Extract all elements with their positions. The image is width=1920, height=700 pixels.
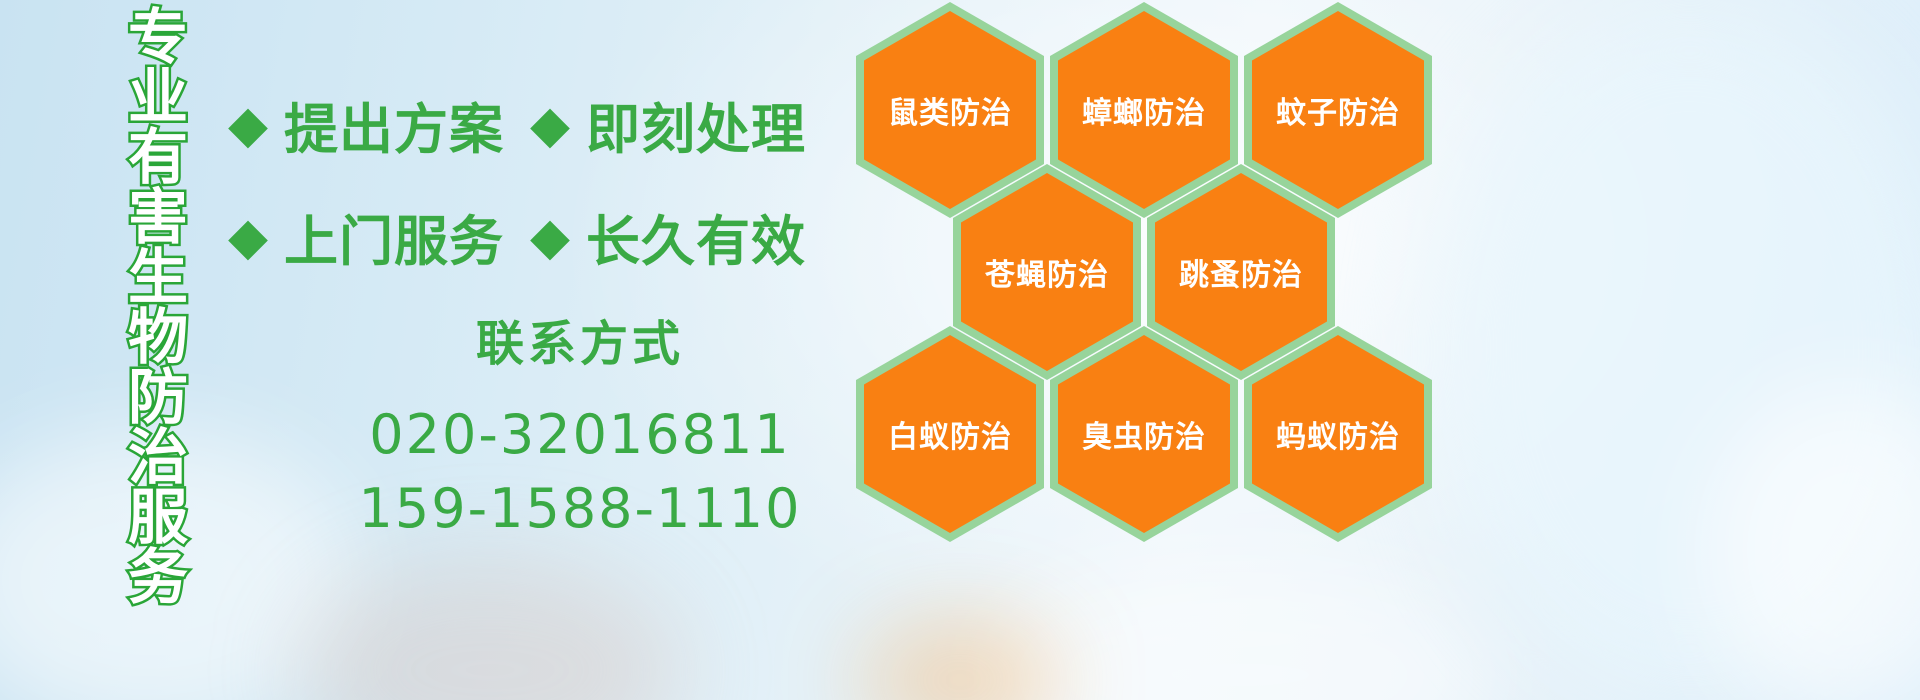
hexagon-fill: 鼠类防治 (864, 11, 1036, 209)
service-label: 蚊子防治 (1276, 88, 1400, 132)
phone-mobile[interactable]: 159-1588-1110 (300, 474, 860, 544)
vertical-title-char: 有 (128, 128, 188, 188)
service-label: 臭虫防治 (1082, 412, 1206, 456)
contact-heading: 联系方式 (300, 312, 860, 376)
service-label: 苍蝇防治 (985, 250, 1109, 294)
service-label: 蚂蚁防治 (1276, 412, 1400, 456)
diamond-bullet-icon: ◆ (228, 211, 268, 263)
vertical-title-char: 治 (128, 428, 188, 488)
vertical-title-char: 务 (128, 548, 188, 608)
vertical-title-char: 专 (128, 8, 188, 68)
feature-label: 上门服务 (284, 197, 504, 276)
phone-landline[interactable]: 020-32016811 (300, 400, 860, 470)
service-label: 鼠类防治 (888, 88, 1012, 132)
service-label: 跳蚤防治 (1179, 250, 1303, 294)
feature-row-2: ◆ 上门服务 ◆ 长久有效 (228, 197, 806, 276)
hexagon-fill: 臭虫防治 (1058, 335, 1230, 533)
vertical-title: 专 业 有 害 生 物 防 治 服 务 (106, 8, 210, 588)
background-blur-blob (1430, 0, 1920, 700)
feature-label: 长久有效 (586, 197, 806, 276)
diamond-bullet-icon: ◆ (530, 99, 570, 151)
hexagon-fill: 蚊子防治 (1252, 11, 1424, 209)
service-honeycomb: 鼠类防治 蟑螂防治 蚊子防治 苍蝇防治 跳蚤防治 白蚁防治 (852, 0, 1472, 700)
hexagon-fill: 蚂蚁防治 (1252, 335, 1424, 533)
vertical-title-char: 业 (128, 68, 188, 128)
contact-block: 联系方式 020-32016811 159-1588-1110 (300, 312, 860, 544)
hexagon-fill: 苍蝇防治 (961, 173, 1133, 371)
banner-canvas: 专 业 有 害 生 物 防 治 服 务 ◆ 提出方案 ◆ 即刻处理 ◆ 上门服务… (0, 0, 1920, 700)
service-label: 蟑螂防治 (1082, 88, 1206, 132)
hexagon-fill: 蟑螂防治 (1058, 11, 1230, 209)
background-blur-blob (300, 560, 680, 700)
feature-label: 提出方案 (284, 85, 504, 164)
hexagon-fill: 跳蚤防治 (1155, 173, 1327, 371)
feature-row-1: ◆ 提出方案 ◆ 即刻处理 (228, 85, 806, 164)
service-label: 白蚁防治 (888, 412, 1012, 456)
vertical-title-char: 物 (128, 308, 188, 368)
diamond-bullet-icon: ◆ (228, 99, 268, 151)
hexagon-fill: 白蚁防治 (864, 335, 1036, 533)
vertical-title-char: 害 (128, 188, 188, 248)
vertical-title-char: 服 (128, 488, 188, 548)
diamond-bullet-icon: ◆ (530, 211, 570, 263)
vertical-title-char: 防 (128, 368, 188, 428)
vertical-title-char: 生 (128, 248, 188, 308)
background-blur-blob (1700, 380, 1920, 700)
feature-label: 即刻处理 (586, 85, 806, 164)
